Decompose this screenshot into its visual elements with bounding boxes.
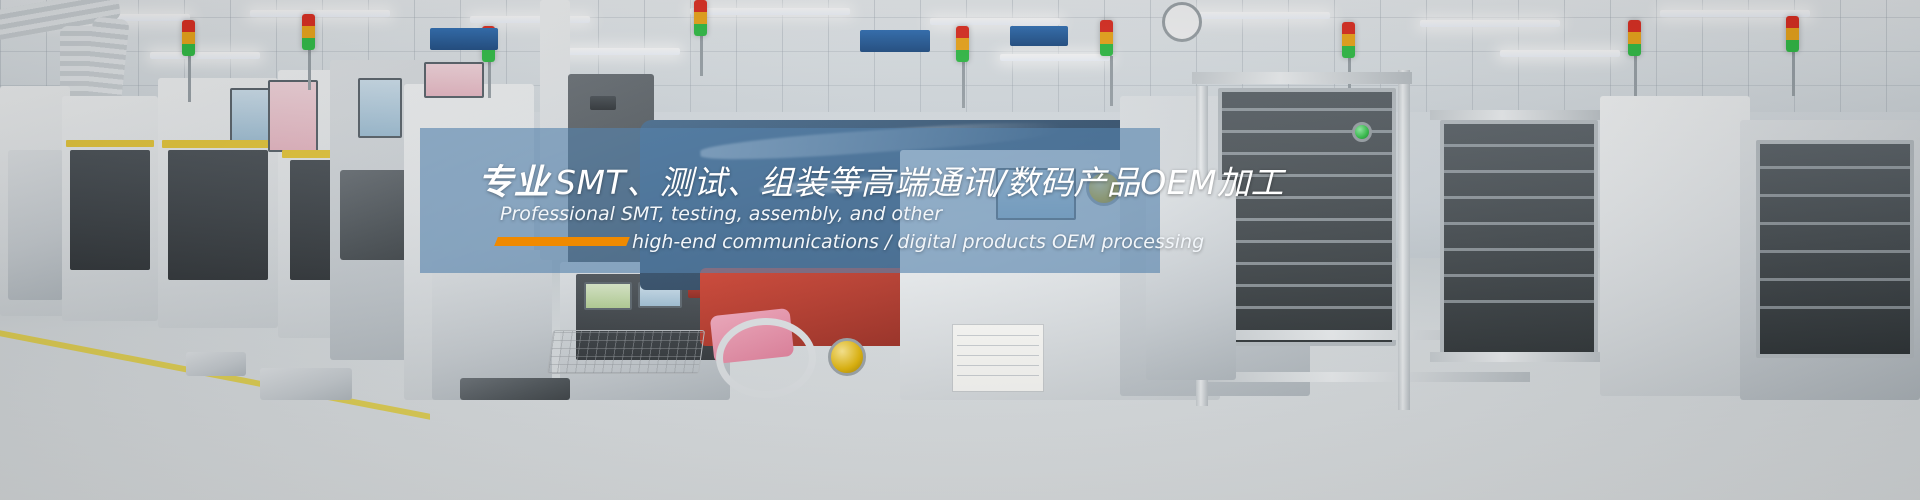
machine-display [358,78,402,138]
tower-pole [1634,56,1637,96]
aluminium-frame [1430,110,1610,120]
hanging-sign [860,30,930,52]
floor-equipment [460,378,570,400]
tower-pole [488,62,491,98]
storage-rack [1440,120,1598,358]
aluminium-frame [1200,372,1530,382]
ceiling-lamp [560,48,680,55]
signal-tower [182,20,195,56]
banner-text-overlay: 专业SMT、测试、组装等高端通讯/数码产品OEM加工 Professional … [420,128,1160,273]
machine-display [268,80,318,152]
control-display [584,282,632,310]
equipment-cabinet [1600,96,1750,396]
banner-subtitle-line1: Professional SMT, testing, assembly, and… [500,203,942,225]
hanging-sign [430,28,498,50]
cabinet-vent [590,96,616,110]
pallet [186,352,246,376]
tower-pole [962,62,965,108]
signal-tower [1100,20,1113,56]
ceiling-lamp [930,18,1060,25]
signal-tower [956,26,969,62]
ceiling-lamp [1000,54,1110,61]
machine-display [230,88,270,144]
emergency-stop-button[interactable] [828,338,866,376]
ceiling-lamp [1180,12,1330,19]
machine-panel [168,150,268,280]
tower-pole [700,36,703,76]
ceiling-lamp [690,8,850,15]
smt-machine [8,150,63,300]
ceiling-lamp [1420,20,1560,27]
ceiling-lamp [250,10,390,17]
machine-panel [70,150,150,270]
banner-headline: 专业SMT、测试、组装等高端通讯/数码产品OEM加工 [478,154,1284,205]
tower-pole [1110,56,1113,106]
cable-coil [716,318,816,398]
operator-keyboard[interactable] [547,330,705,374]
ceiling-lamp [150,52,260,59]
banner-subtitle-line2: high-end communications / digital produc… [632,231,1204,253]
wall-clock-icon [1162,2,1202,42]
tower-pole [188,56,191,102]
rack-indicator [1352,122,1372,142]
safety-marking [162,140,274,148]
ceiling-lamp [470,16,590,23]
hanging-sign [1010,26,1068,46]
tower-pole [1792,52,1795,96]
machine-display [424,62,484,98]
process-document [952,324,1044,392]
hero-banner: 专业SMT、测试、组装等高端通讯/数码产品OEM加工 Professional … [0,0,1920,500]
ceiling-lamp [1500,50,1620,57]
orange-accent-bar [494,237,630,246]
signal-tower [694,0,707,36]
signal-tower [1628,20,1641,56]
signal-tower [302,14,315,50]
signal-tower [1342,22,1355,58]
aluminium-frame [1398,70,1410,410]
headline-rest: SMT、测试、组装等高端通讯/数码产品OEM加工 [555,163,1284,202]
signal-tower [1786,16,1799,52]
storage-rack [1756,140,1914,358]
tower-pole [308,50,311,90]
headline-emphasis: 专业 [478,163,549,203]
pallet [260,368,352,400]
aluminium-frame [1430,352,1610,362]
safety-marking [66,140,154,147]
aluminium-frame [1192,72,1412,84]
